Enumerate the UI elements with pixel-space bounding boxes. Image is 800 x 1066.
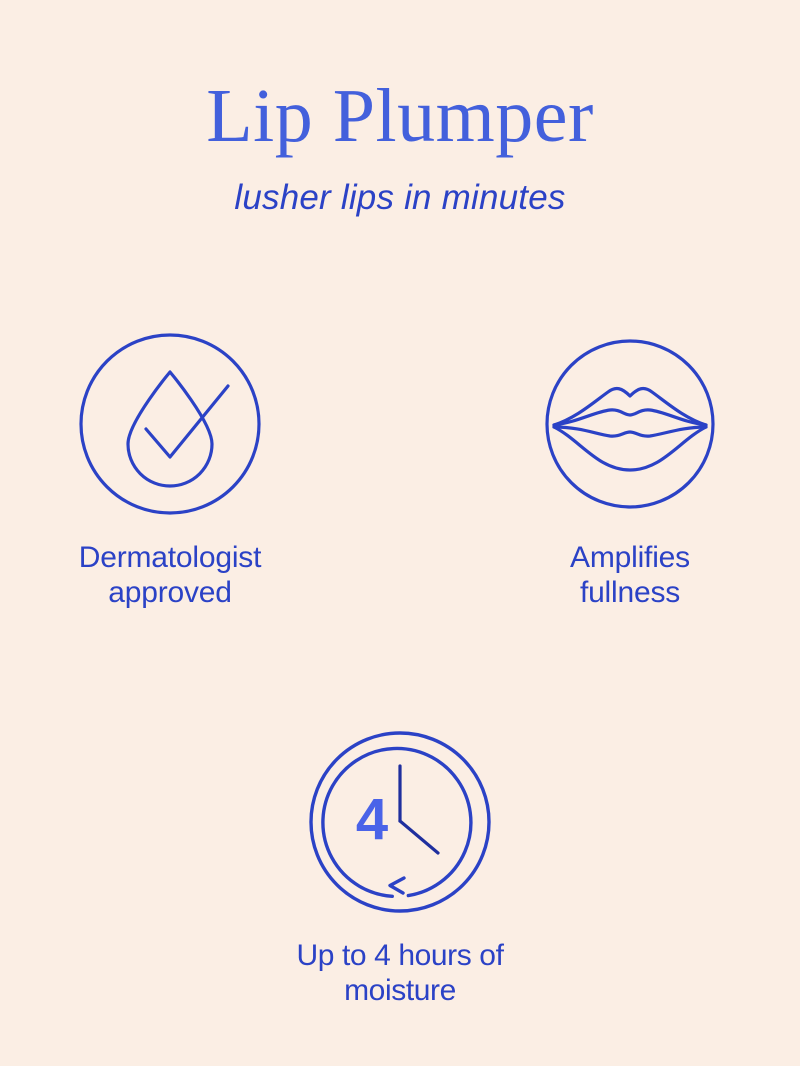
clock-numeral: 4 <box>356 787 388 852</box>
lips-icon <box>536 330 724 518</box>
clock-arrow-icon: 4 <box>306 728 494 916</box>
feature-dermatologist-approved: Dermatologist approved <box>20 330 320 610</box>
feature-amplifies-fullness: Amplifies fullness <box>480 330 780 610</box>
feature-label: Up to 4 hours of moisture <box>296 938 503 1008</box>
feature-row-bottom: 4 Up to 4 hours of moisture <box>0 728 800 1008</box>
feature-list: Dermatologist approved <box>0 330 800 1008</box>
feature-label: Amplifies fullness <box>570 540 690 610</box>
header: Lip Plumper lusher lips in minutes <box>0 70 800 220</box>
page-title: Lip Plumper <box>0 70 800 162</box>
feature-label: Dermatologist approved <box>79 540 261 610</box>
droplet-check-icon <box>76 330 264 518</box>
feature-hours-of-moisture: 4 Up to 4 hours of moisture <box>250 728 550 1008</box>
page-subtitle: lusher lips in minutes <box>0 176 800 220</box>
feature-row-top: Dermatologist approved <box>0 330 800 610</box>
lip-plumper-infographic: Lip Plumper lusher lips in minutes Derma… <box>0 0 800 1066</box>
